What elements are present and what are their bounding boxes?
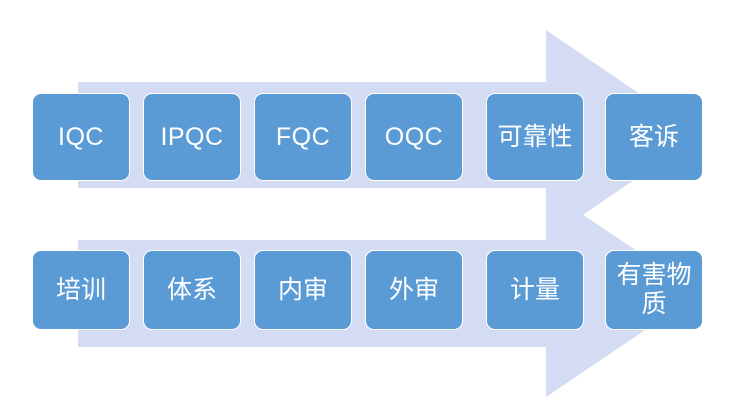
node-top-6[interactable]: 客诉 <box>605 93 703 181</box>
node-bottom-1[interactable]: 培训 <box>32 250 130 330</box>
node-bottom-4-label: 外审 <box>389 276 439 305</box>
node-bottom-3-label: 内审 <box>278 276 328 305</box>
node-top-4-label: OQC <box>385 123 443 152</box>
node-top-2[interactable]: IPQC <box>143 93 241 181</box>
node-top-4[interactable]: OQC <box>365 93 463 181</box>
node-bottom-3[interactable]: 内审 <box>254 250 352 330</box>
node-bottom-5[interactable]: 计量 <box>486 250 584 330</box>
node-bottom-2[interactable]: 体系 <box>143 250 241 330</box>
node-bottom-1-label: 培训 <box>56 276 106 305</box>
diagram-canvas: IQC IPQC FQC OQC 可靠性 客诉 培训 体系 内审 外审 计量 有… <box>0 0 734 406</box>
node-top-5[interactable]: 可靠性 <box>486 93 584 181</box>
node-bottom-6[interactable]: 有害物 质 <box>605 250 703 330</box>
node-top-6-label: 客诉 <box>629 123 679 152</box>
node-top-2-label: IPQC <box>160 123 223 152</box>
node-top-1[interactable]: IQC <box>32 93 130 181</box>
arrow-shapes-layer <box>0 0 734 406</box>
node-bottom-5-label: 计量 <box>510 276 560 305</box>
node-bottom-2-label: 体系 <box>167 276 217 305</box>
node-top-3-label: FQC <box>276 123 330 152</box>
node-bottom-6-label: 有害物 质 <box>612 261 696 319</box>
node-bottom-4[interactable]: 外审 <box>365 250 463 330</box>
node-top-5-label: 可靠性 <box>497 123 572 152</box>
node-top-1-label: IQC <box>58 123 104 152</box>
node-top-3[interactable]: FQC <box>254 93 352 181</box>
